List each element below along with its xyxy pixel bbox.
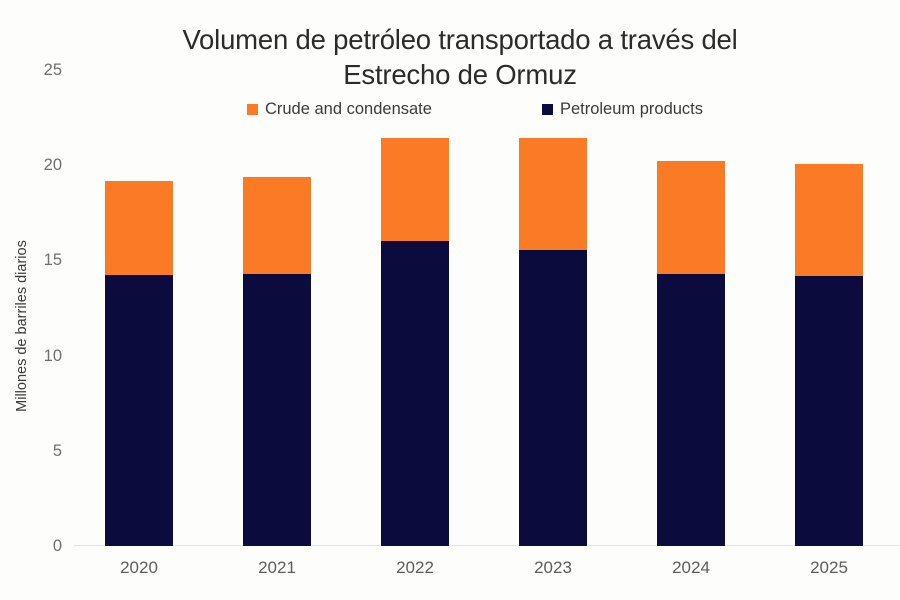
x-axis-tick-labels: 202020212022202320242025 — [74, 558, 900, 588]
y-axis: Millones de barriles diarios 0510152025 — [0, 0, 74, 600]
bar-segment-crude-and-condensate[interactable] — [243, 177, 311, 274]
bar-segment-crude-and-condensate[interactable] — [519, 138, 587, 250]
x-tick-label: 2021 — [243, 558, 311, 578]
bar-segment-crude-and-condensate[interactable] — [657, 161, 725, 273]
x-tick-label: 2022 — [381, 558, 449, 578]
x-axis-baseline — [74, 545, 900, 547]
bar-segment-petroleum-products[interactable] — [105, 275, 173, 546]
bar-segment-petroleum-products[interactable] — [381, 241, 449, 546]
y-tick-label: 20 — [44, 157, 62, 173]
stacked-bar-chart: Volumen de petróleo transportado a travé… — [0, 0, 900, 600]
y-tick-label: 10 — [44, 348, 62, 364]
x-tick-label: 2025 — [795, 558, 863, 578]
x-tick-label: 2020 — [105, 558, 173, 578]
x-tick-label: 2023 — [519, 558, 587, 578]
plot-area — [74, 70, 900, 546]
bar-segment-petroleum-products[interactable] — [243, 274, 311, 546]
bar-segment-petroleum-products[interactable] — [795, 276, 863, 546]
bar-segment-crude-and-condensate[interactable] — [381, 138, 449, 242]
y-tick-label: 0 — [53, 538, 62, 554]
y-axis-title: Millones de barriles diarios — [14, 206, 30, 446]
bar-segment-petroleum-products[interactable] — [657, 274, 725, 546]
x-tick-label: 2024 — [657, 558, 725, 578]
y-tick-label: 15 — [44, 252, 62, 268]
bar-segment-crude-and-condensate[interactable] — [795, 164, 863, 275]
y-tick-label: 25 — [44, 62, 62, 78]
bar-segment-crude-and-condensate[interactable] — [105, 181, 173, 274]
y-tick-label: 5 — [53, 443, 62, 459]
bar-segment-petroleum-products[interactable] — [519, 250, 587, 546]
